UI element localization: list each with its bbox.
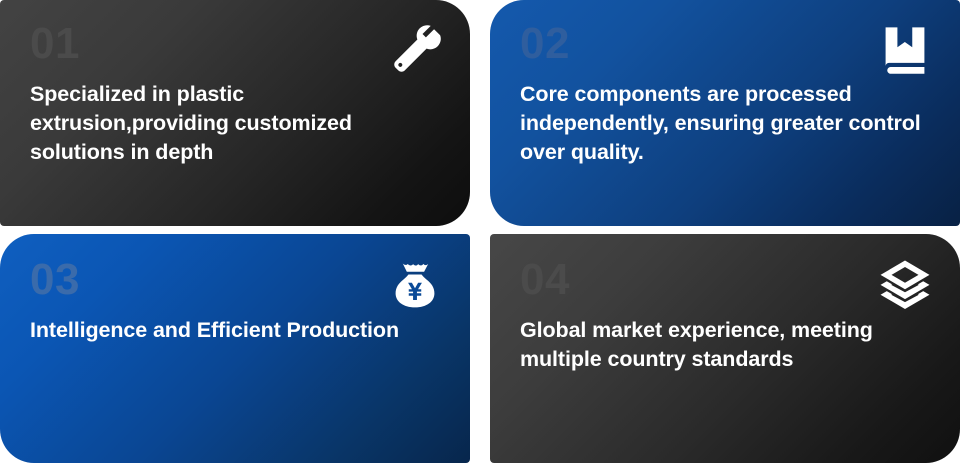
feature-card-04[interactable]: 04 Global market experience, meeting mul… bbox=[490, 234, 960, 463]
layers-stack-icon bbox=[878, 258, 932, 312]
wrench-icon bbox=[388, 24, 442, 78]
card-number: 03 bbox=[30, 258, 440, 302]
feature-card-01[interactable]: 01 Specialized in plastic extrusion,prov… bbox=[0, 0, 470, 226]
card-number: 01 bbox=[30, 22, 440, 66]
card-title: Specialized in plastic extrusion,providi… bbox=[30, 80, 440, 166]
book-bookmark-icon bbox=[878, 24, 932, 78]
card-number: 02 bbox=[520, 22, 930, 66]
card-title: Global market experience, meeting multip… bbox=[520, 316, 930, 374]
feature-card-03[interactable]: 03 Intelligence and Efficient Production bbox=[0, 234, 470, 463]
card-number: 04 bbox=[520, 258, 930, 302]
money-bag-yen-icon bbox=[388, 258, 442, 312]
feature-card-grid: 01 Specialized in plastic extrusion,prov… bbox=[0, 0, 960, 459]
card-title: Core components are processed independen… bbox=[520, 80, 930, 166]
feature-card-02[interactable]: 02 Core components are processed indepen… bbox=[490, 0, 960, 226]
card-title: Intelligence and Efficient Production bbox=[30, 316, 440, 345]
